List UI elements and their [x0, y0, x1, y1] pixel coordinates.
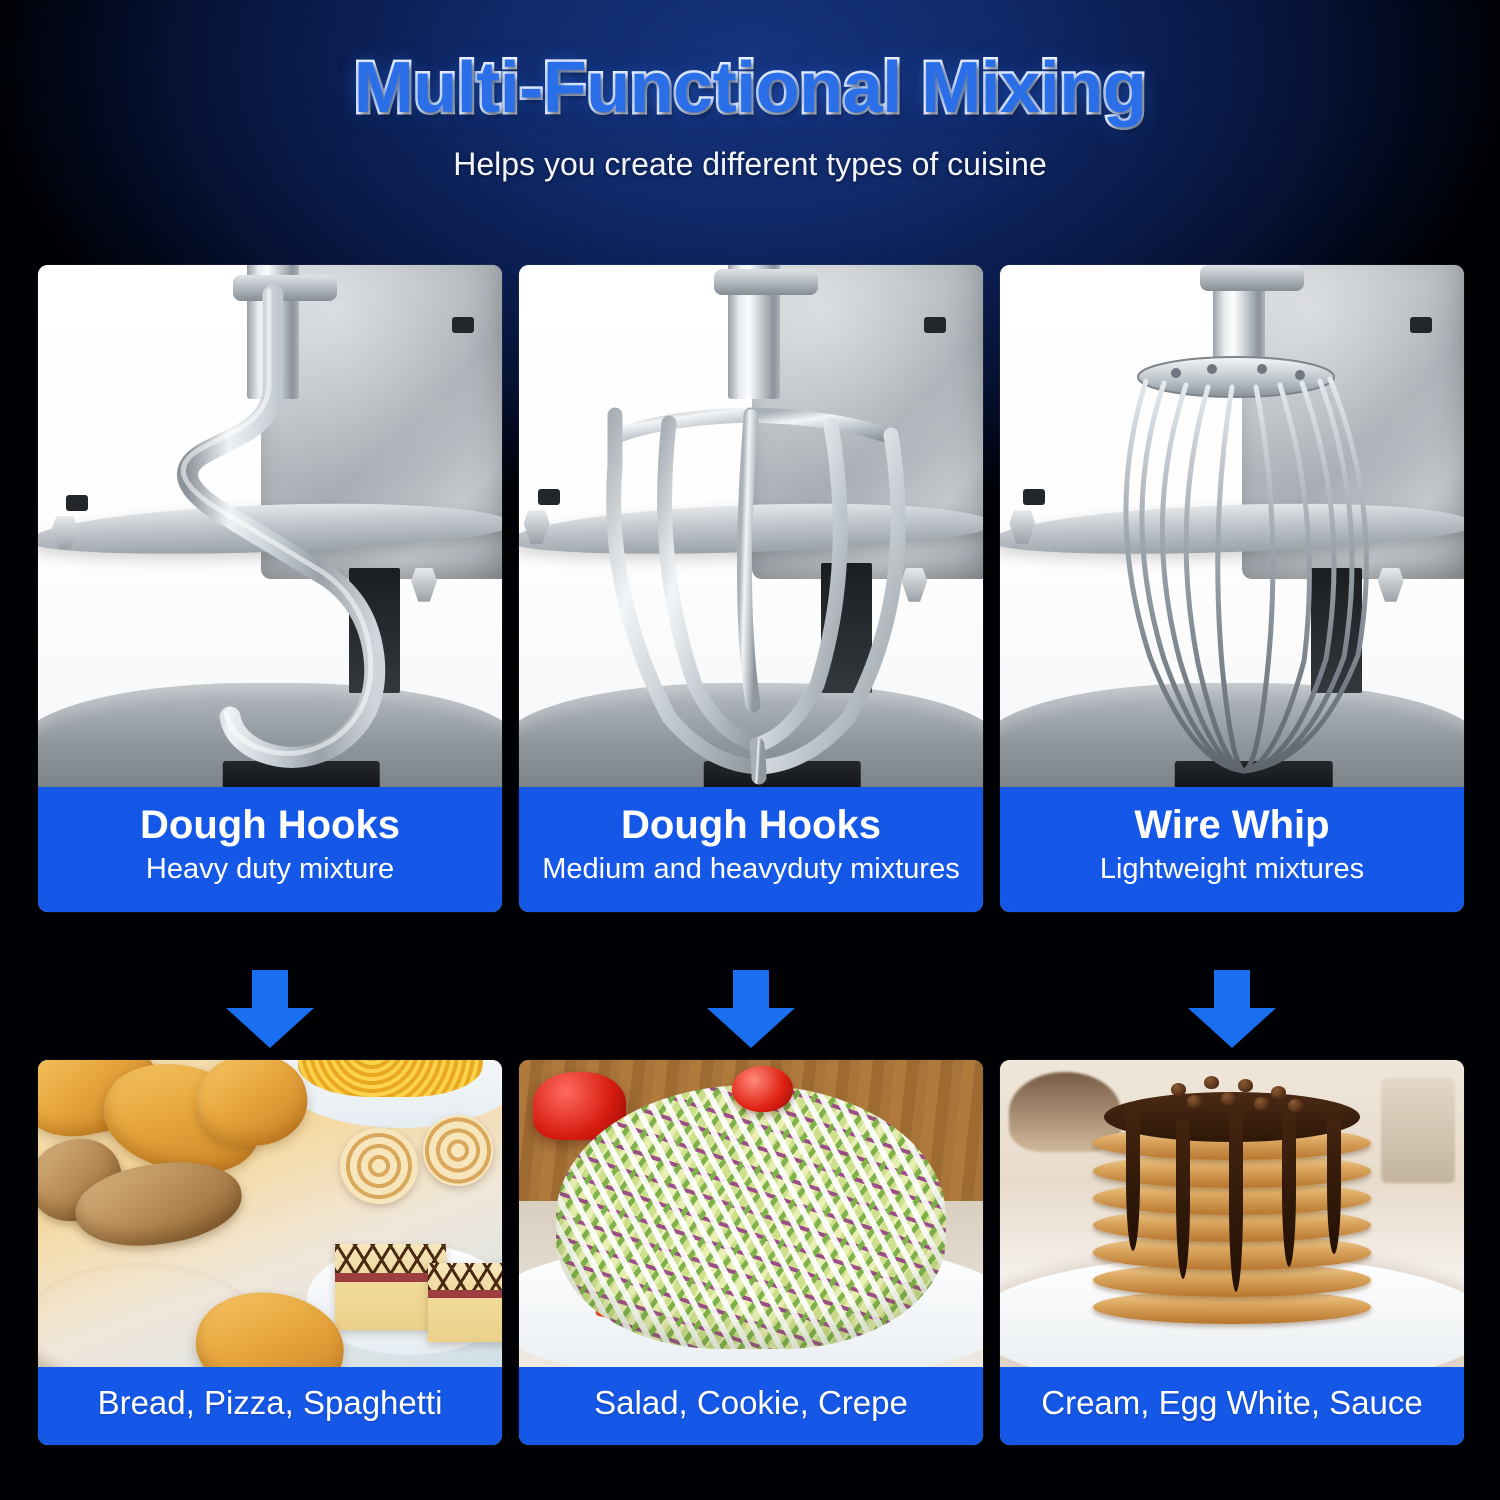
- attachment-photo-dough-hook: [38, 265, 502, 787]
- attachment-name-2: Dough Hooks: [533, 803, 969, 847]
- page-title: Multi-Functional Mixing: [0, 0, 1500, 124]
- arrow-cell-1: [38, 968, 502, 1050]
- result-photo-bakery: [38, 1060, 502, 1367]
- attachment-name-3: Wire Whip: [1014, 803, 1450, 847]
- header: Multi-Functional Mixing Helps you create…: [0, 0, 1500, 183]
- results-row: Bread, Pizza, Spaghetti: [38, 1060, 1465, 1445]
- attachment-card-3[interactable]: Wire Whip Lightweight mixtures: [1000, 265, 1464, 912]
- attachment-name-1: Dough Hooks: [52, 803, 488, 847]
- arrow-row: [38, 968, 1465, 1050]
- attachment-card-1-body: Dough Hooks Heavy duty mixture: [38, 265, 502, 912]
- attachment-desc-3: Lightweight mixtures: [1014, 853, 1450, 886]
- result-photo-pancakes: [1000, 1060, 1464, 1367]
- infographic-canvas: Multi-Functional Mixing Helps you create…: [0, 0, 1500, 1500]
- attachment-label-1: Dough Hooks Heavy duty mixture: [38, 787, 502, 912]
- result-label-2: Salad, Cookie, Crepe: [519, 1367, 983, 1445]
- result-label-1: Bread, Pizza, Spaghetti: [38, 1367, 502, 1445]
- attachments-row: Dough Hooks Heavy duty mixture: [38, 265, 1465, 912]
- result-card-1-body: Bread, Pizza, Spaghetti: [38, 1060, 502, 1445]
- result-label-3: Cream, Egg White, Sauce: [1000, 1367, 1464, 1445]
- result-card-3-body: Cream, Egg White, Sauce: [1000, 1060, 1464, 1445]
- down-arrow-icon-3: [1184, 968, 1280, 1050]
- attachment-desc-2: Medium and heavyduty mixtures: [533, 853, 969, 886]
- attachment-label-2: Dough Hooks Medium and heavyduty mixture…: [519, 787, 983, 912]
- attachment-desc-1: Heavy duty mixture: [52, 853, 488, 886]
- result-card-1[interactable]: Bread, Pizza, Spaghetti: [38, 1060, 502, 1445]
- down-arrow-icon-2: [703, 968, 799, 1050]
- result-card-2-body: Salad, Cookie, Crepe: [519, 1060, 983, 1445]
- page-subtitle: Helps you create different types of cuis…: [0, 146, 1500, 183]
- result-card-3[interactable]: Cream, Egg White, Sauce: [1000, 1060, 1464, 1445]
- arrow-cell-2: [519, 968, 983, 1050]
- result-photo-salad: [519, 1060, 983, 1367]
- attachment-card-1[interactable]: Dough Hooks Heavy duty mixture: [38, 265, 502, 912]
- attachment-photo-flat-beater: [519, 265, 983, 787]
- down-arrow-icon-1: [222, 968, 318, 1050]
- arrow-cell-3: [1000, 968, 1464, 1050]
- attachment-card-3-body: Wire Whip Lightweight mixtures: [1000, 265, 1464, 912]
- attachment-card-2-body: Dough Hooks Medium and heavyduty mixture…: [519, 265, 983, 912]
- attachment-photo-wire-whip: [1000, 265, 1464, 787]
- result-card-2[interactable]: Salad, Cookie, Crepe: [519, 1060, 983, 1445]
- attachment-card-2[interactable]: Dough Hooks Medium and heavyduty mixture…: [519, 265, 983, 912]
- attachment-label-3: Wire Whip Lightweight mixtures: [1000, 787, 1464, 912]
